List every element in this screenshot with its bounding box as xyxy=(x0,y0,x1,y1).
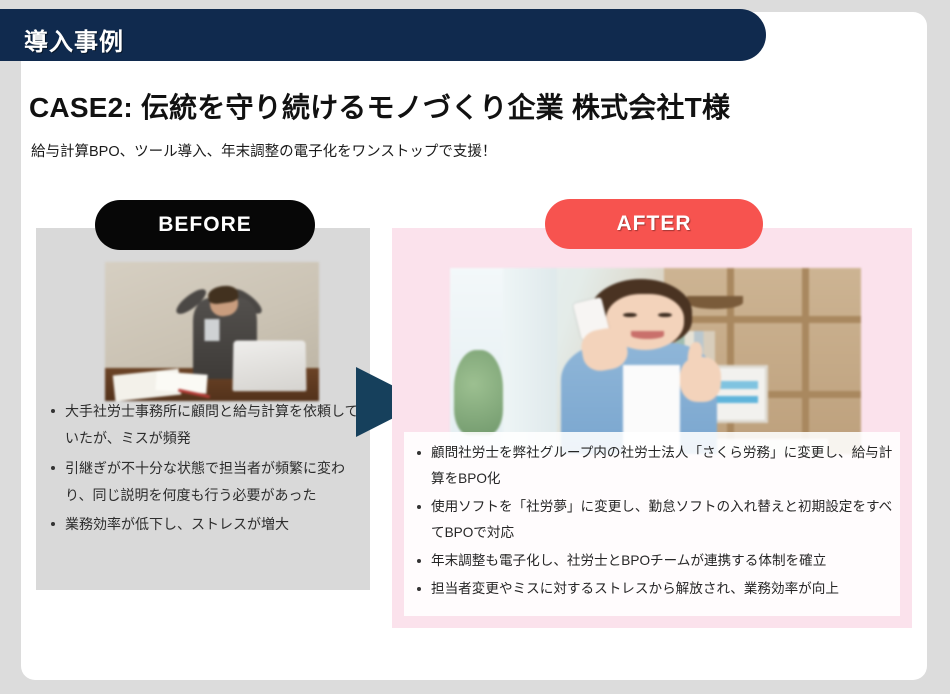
after-badge: AFTER xyxy=(545,199,763,249)
after-bullet-list: 顧問社労士を弊社グループ内の社労士法人「さくら労務」に変更し、給与計算をBPO化… xyxy=(414,440,900,605)
ribbon-title: 導入事例 xyxy=(24,22,124,57)
page-title: CASE2: 伝統を守り続けるモノづくり企業 株式会社T様 xyxy=(29,86,730,126)
shelf-bowl xyxy=(687,296,742,309)
after-photo xyxy=(450,268,861,454)
after-plant xyxy=(454,350,503,436)
list-item: 業務効率が低下し、ストレスが増大 xyxy=(48,511,364,538)
before-shirt xyxy=(205,319,220,341)
list-item: 顧問社労士を弊社グループ内の社労士法人「さくら労務」に変更し、給与計算をBPO化 xyxy=(414,440,900,492)
before-bullet-list: 大手社労士事務所に顧問と給与計算を依頼していたが、ミスが頻発 引継ぎが不十分な状… xyxy=(48,398,364,540)
list-item: 使用ソフトを「社労夢」に変更し、勤怠ソフトの入れ替えと初期設定をすべてBPOで対… xyxy=(414,494,900,546)
after-hand-right xyxy=(680,357,721,402)
list-item: 引継ぎが不十分な状態で担当者が頻繁に変わり、同じ説明を何度も行う必要があった xyxy=(48,455,364,510)
after-mouth xyxy=(631,331,664,338)
shelf-divider-2 xyxy=(802,268,809,454)
list-item: 担当者変更やミスに対するストレスから解放され、業務効率が向上 xyxy=(414,576,900,602)
before-badge: BEFORE xyxy=(95,200,315,250)
list-item: 年末調整も電子化し、社労士とBPOチームが連携する体制を確立 xyxy=(414,548,900,574)
before-laptop xyxy=(233,340,307,391)
after-curtain xyxy=(503,268,556,454)
shelf-line-1 xyxy=(664,316,861,323)
list-item: 大手社労士事務所に顧問と給与計算を依頼していたが、ミスが頻発 xyxy=(48,398,364,453)
before-photo xyxy=(105,262,319,401)
slide-root: 導入事例 CASE2: 伝統を守り続けるモノづくり企業 株式会社T様 給与計算B… xyxy=(0,0,950,694)
page-subtitle: 給与計算BPO、ツール導入、年末調整の電子化をワンストップで支援！ xyxy=(31,140,496,161)
after-photo-art xyxy=(450,268,861,454)
before-photo-art xyxy=(105,262,319,401)
section-ribbon: 導入事例 xyxy=(0,9,766,61)
